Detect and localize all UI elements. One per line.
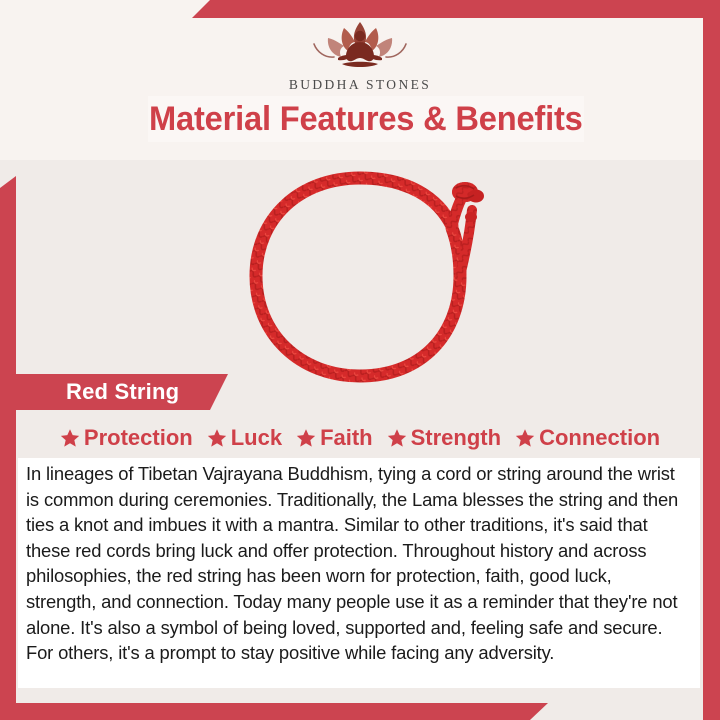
frame-right-bar — [703, 18, 720, 720]
frame-left-bar — [0, 176, 16, 720]
benefit-item-strength: Strength — [387, 425, 501, 451]
description-card: In lineages of Tibetan Vajrayana Buddhis… — [18, 458, 700, 688]
benefit-item-protection: Protection — [60, 425, 193, 451]
star-icon — [207, 428, 227, 448]
star-icon — [296, 428, 316, 448]
benefit-item-luck: Luck — [207, 425, 282, 451]
brand-wordmark: BUDDHA STONES — [289, 77, 431, 93]
benefit-label: Protection — [84, 425, 193, 451]
benefit-item-faith: Faith — [296, 425, 373, 451]
page-title-band: Material Features & Benefits — [148, 96, 584, 142]
product-label-ribbon: Red String — [16, 374, 228, 410]
benefit-label: Luck — [231, 425, 282, 451]
benefit-label: Faith — [320, 425, 373, 451]
product-image — [160, 148, 560, 406]
lotus-meditation-icon — [300, 18, 420, 74]
benefits-list: Protection Luck Faith Strength Connectio… — [16, 420, 704, 456]
star-icon — [515, 428, 535, 448]
benefit-item-connection: Connection — [515, 425, 660, 451]
star-icon — [387, 428, 407, 448]
description-text: In lineages of Tibetan Vajrayana Buddhis… — [26, 461, 684, 666]
benefit-label: Connection — [539, 425, 660, 451]
brand-logo: BUDDHA STONES — [0, 18, 720, 93]
benefit-label: Strength — [411, 425, 501, 451]
star-icon — [60, 428, 80, 448]
infographic-page: BUDDHA STONES Material Features & Benefi… — [0, 0, 720, 720]
red-braided-string-bracelet-icon — [160, 148, 560, 406]
page-title: Material Features & Benefits — [149, 100, 583, 139]
product-label-text: Red String — [16, 379, 179, 405]
